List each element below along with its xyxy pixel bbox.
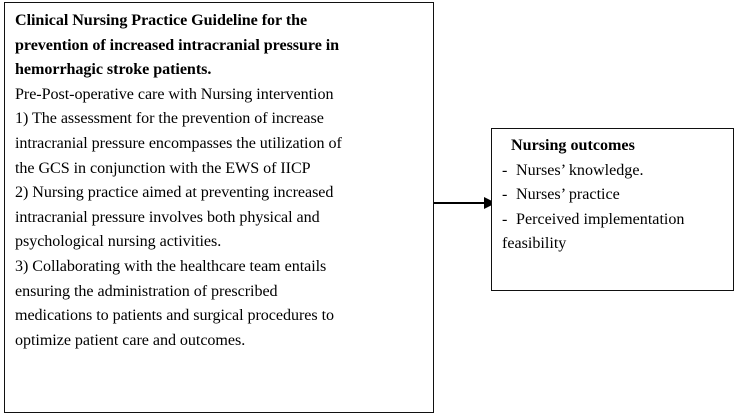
guideline-body-line-7: psychological nursing activities. — [15, 230, 424, 255]
guideline-body-line-9: ensuring the administration of prescribe… — [15, 280, 424, 305]
arrow-icon — [430, 193, 496, 213]
guideline-body-line-10: medications to patients and surgical pro… — [15, 304, 424, 329]
guideline-body-line-11: optimize patient care and outcomes. — [15, 329, 424, 354]
dash-bullet-icon: - — [502, 183, 516, 208]
guideline-title-line-3: hemorrhagic stroke patients. — [15, 58, 424, 83]
list-item-label: Nurses’ knowledge. — [516, 162, 644, 179]
list-item: -Nurses’ knowledge. — [502, 159, 727, 184]
guideline-body-line-1: Pre-Post-operative care with Nursing int… — [15, 83, 424, 108]
outcomes-title: Nursing outcomes — [511, 134, 727, 159]
guideline-title-block: Clinical Nursing Practice Guideline for … — [15, 9, 424, 83]
list-item-label: feasibility — [502, 235, 566, 252]
list-item-label: Perceived implementation — [516, 211, 684, 228]
list-item: -Perceived implementation — [502, 208, 727, 233]
dash-bullet-icon: - — [502, 208, 516, 233]
list-item: -Nurses’ practice — [502, 183, 727, 208]
guideline-body-line-8: 3) Collaborating with the healthcare tea… — [15, 255, 424, 280]
intervention-node: Clinical Nursing Practice Guideline for … — [4, 2, 434, 413]
diagram-canvas: Clinical Nursing Practice Guideline for … — [0, 0, 740, 418]
guideline-body-line-4: the GCS in conjunction with the EWS of I… — [15, 157, 424, 182]
guideline-title-line-1: Clinical Nursing Practice Guideline for … — [15, 9, 424, 34]
guideline-title-line-2: prevention of increased intracranial pre… — [15, 34, 424, 59]
outcomes-node: Nursing outcomes -Nurses’ knowledge. -Nu… — [491, 128, 734, 291]
outcomes-list: -Nurses’ knowledge. -Nurses’ practice -P… — [502, 159, 727, 257]
dash-bullet-icon: - — [502, 159, 516, 184]
guideline-body-line-5: 2) Nursing practice aimed at preventing … — [15, 181, 424, 206]
guideline-body-line-2: 1) The assessment for the prevention of … — [15, 107, 424, 132]
list-item-label: Nurses’ practice — [516, 186, 620, 203]
list-item-continuation: feasibility — [502, 232, 727, 257]
guideline-body-line-6: intracranial pressure involves both phys… — [15, 206, 424, 231]
guideline-body-block: Pre-Post-operative care with Nursing int… — [15, 83, 424, 354]
guideline-body-line-3: intracranial pressure encompasses the ut… — [15, 132, 424, 157]
